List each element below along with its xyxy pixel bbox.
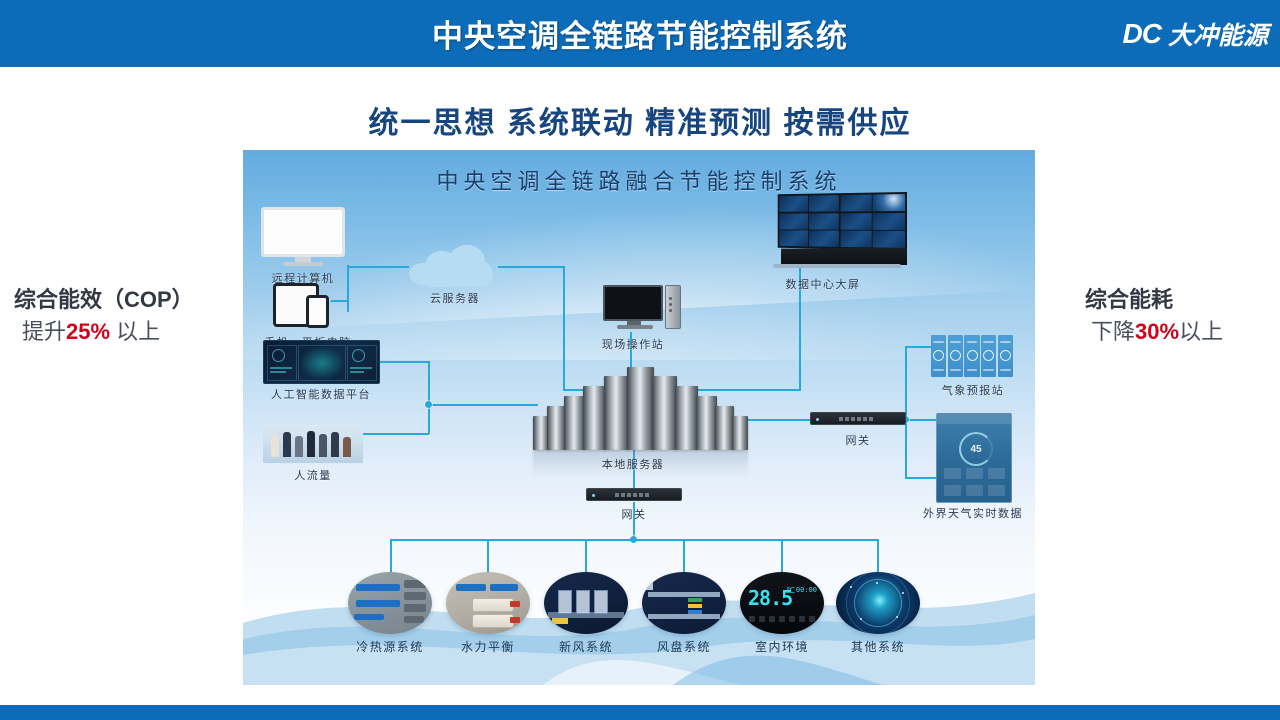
remote-computer-screen: [261, 207, 345, 257]
videowall-cell: [840, 231, 871, 248]
videowall-pedestal: [781, 248, 907, 265]
data-center-screen-icon: [763, 192, 913, 270]
connector-server-to-gateway-right: [743, 419, 811, 421]
star-particle: [850, 586, 852, 588]
bottom-node-other[interactable]: [836, 572, 920, 634]
cloud-server-icon: [409, 245, 501, 287]
weather-metric-chip: [966, 485, 983, 496]
callout-energy: 综合能耗 下降30%以上: [1085, 285, 1280, 346]
connector-drop-3: [585, 539, 587, 573]
workstation-led-2: [669, 303, 672, 306]
connector-people-bus-vertical: [428, 404, 430, 434]
gateway-port: [627, 493, 631, 497]
server-rack: [583, 386, 606, 450]
weather-metric-chip: [988, 485, 1005, 496]
label-other-systems: 其他系统: [818, 638, 938, 655]
weather-station-icon: [931, 335, 1013, 377]
weather-realtime-icon: 45: [936, 413, 1012, 503]
forecast-column: [964, 335, 979, 377]
weather-metric-row-1: [941, 468, 1007, 479]
videowall-grid: [778, 192, 907, 250]
people-flow-icon: [263, 425, 363, 463]
label-weather-realtime: 外界天气实时数据: [908, 505, 1035, 521]
ai-panel-center: [298, 345, 346, 381]
callout-energy-suffix: 以上: [1179, 319, 1223, 344]
gateway-right-led: [816, 418, 819, 421]
ai-ring-1: [272, 349, 285, 362]
gateway-port: [857, 417, 861, 421]
callout-energy-prefix: 下降: [1091, 319, 1135, 344]
callout-energy-value: 下降30%以上: [1085, 317, 1280, 347]
callout-cop-percent: 25%: [66, 319, 110, 344]
other-systems-icon: [836, 572, 920, 634]
videowall-cell: [873, 231, 905, 248]
label-data-center-screen: 数据中心大屏: [763, 276, 883, 292]
orbit-ring-outer: [846, 572, 910, 634]
callout-cop-suffix: 以上: [110, 319, 160, 344]
star-particle: [860, 618, 862, 620]
forecast-column: [931, 335, 946, 377]
cloud-puff-3: [449, 245, 485, 277]
server-rack: [732, 416, 748, 450]
onsite-workstation-icon: [603, 285, 683, 333]
thermostat-button: [789, 616, 795, 622]
callout-energy-percent: 30%: [1135, 319, 1179, 344]
bottom-node-indoor[interactable]: 28.5 ℃ 00:00: [740, 572, 824, 634]
gateway-port: [845, 417, 849, 421]
star-particle: [902, 592, 904, 594]
thermostat-unit: ℃: [786, 586, 795, 595]
brand-name: 大冲能源: [1168, 16, 1268, 52]
connector-weather-realtime: [905, 477, 937, 479]
remote-computer-base: [283, 262, 323, 266]
connector-drop-4: [683, 539, 685, 573]
server-rack: [604, 376, 629, 450]
connector-drop-1: [390, 539, 392, 573]
diagram-title: 中央空调全链路融合节能控制系统: [243, 164, 1035, 196]
gateway-port: [621, 493, 625, 497]
phone-tablet-icon: [273, 283, 343, 331]
callout-cop: 综合能效（COP） 提升25% 以上: [14, 285, 229, 346]
label-gateway-bottom: 网关: [594, 506, 674, 522]
connector-cloud-right: [498, 266, 564, 268]
forecast-column: [981, 335, 996, 377]
gateway-port: [869, 417, 873, 421]
subtitle-slogan: 统一思想 系统联动 精准预测 按需供应: [0, 98, 1280, 142]
callout-cop-title: 综合能效（COP）: [14, 285, 229, 315]
videowall-base: [773, 264, 901, 268]
server-rack: [652, 376, 677, 450]
callout-energy-title: 综合能耗: [1085, 285, 1280, 315]
person-5: [319, 434, 327, 457]
videowall-cell: [779, 213, 808, 229]
remote-computer-icon: [261, 207, 345, 267]
videowall-cell: [840, 195, 871, 212]
system-architecture-diagram: 中央空调全链路融合节能控制系统: [243, 150, 1035, 685]
workstation-screen: [603, 285, 663, 321]
workstation-tower: [665, 285, 681, 329]
label-ai-data-platform: 人工智能数据平台: [251, 386, 391, 402]
thermostat-buttons: [749, 616, 815, 623]
gateway-port: [645, 493, 649, 497]
server-rack: [696, 396, 717, 450]
videowall-cell: [779, 196, 808, 212]
star-particle: [896, 616, 898, 618]
workstation-led-3: [669, 309, 672, 312]
connector-drop-2: [487, 539, 489, 573]
chiller-plant-icon: [348, 572, 432, 634]
person-3: [295, 436, 303, 457]
gateway-port: [839, 417, 843, 421]
person-6: [331, 432, 339, 457]
label-people-flow: 人流量: [268, 467, 358, 483]
gateway-port: [633, 493, 637, 497]
hydraulic-balance-icon: [446, 572, 530, 634]
connector-ai-platform-horizontal: [377, 361, 429, 363]
gateway-bottom-icon: [586, 488, 682, 501]
fresh-air-icon: [544, 572, 628, 634]
sun-icon: [967, 350, 978, 361]
person-4: [307, 431, 315, 457]
label-chiller-system: 冷热源系统: [330, 638, 450, 655]
gateway-port: [851, 417, 855, 421]
fan-coil-icon: [642, 572, 726, 634]
videowall-cell-highlight: [873, 194, 905, 211]
bottom-node-chiller[interactable]: [348, 572, 432, 634]
gateway-bottom-led: [592, 494, 595, 497]
thermostat-button: [769, 616, 775, 622]
server-rack: [627, 367, 654, 450]
thermostat-clock: 00:00: [796, 586, 817, 594]
connector-drop-5: [781, 539, 783, 573]
ai-bar-3: [350, 367, 372, 369]
callout-cop-prefix: 提升: [22, 319, 66, 344]
weather-metric-chip: [966, 468, 983, 479]
brand-abbr: DC: [1123, 18, 1161, 50]
weather-metric-chip: [988, 468, 1005, 479]
thermostat-button: [809, 616, 815, 622]
brand-logo: DC 大冲能源: [1123, 14, 1268, 54]
videowall-cell: [779, 230, 808, 246]
thermostat-button: [799, 616, 805, 622]
bottom-node-hydro[interactable]: [446, 572, 530, 634]
connector-drop-6: [877, 539, 879, 573]
videowall-cell: [873, 213, 905, 230]
weather-metric-chip: [944, 485, 961, 496]
junction-dot-left-bus: [425, 401, 432, 408]
star-particle: [876, 582, 878, 584]
label-gateway-right: 网关: [818, 432, 898, 448]
ai-bar-4: [350, 371, 364, 373]
bottom-node-freshair[interactable]: [544, 572, 628, 634]
bottom-node-fancoil[interactable]: [642, 572, 726, 634]
videowall-cell: [840, 213, 871, 230]
phone-icon: [306, 295, 329, 328]
sun-icon: [950, 350, 961, 361]
indoor-thermostat-icon: 28.5 ℃ 00:00: [740, 572, 824, 634]
connector-remote-computer-horizontal: [347, 266, 409, 268]
cloud-puff-4: [409, 263, 435, 285]
label-local-server: 本地服务器: [583, 456, 683, 472]
videowall-cell: [809, 230, 839, 246]
server-rack: [675, 386, 698, 450]
thermostat-button: [779, 616, 785, 622]
workstation-led-1: [669, 297, 672, 300]
sun-icon: [933, 350, 944, 361]
label-onsite-workstation: 现场操作站: [583, 336, 683, 352]
connector-bottom-bus: [390, 539, 877, 541]
sun-icon: [983, 350, 994, 361]
page-title: 中央空调全链路节能控制系统: [0, 0, 1280, 67]
page-header: 中央空调全链路节能控制系统 DC 大冲能源: [0, 0, 1280, 67]
thermostat-button: [759, 616, 765, 622]
person-7: [343, 437, 351, 457]
gateway-right-icon: [810, 412, 906, 425]
server-rack: [564, 396, 585, 450]
local-server-icon: [533, 365, 748, 450]
gateway-port: [863, 417, 867, 421]
gateway-port: [615, 493, 619, 497]
workstation-foot: [617, 325, 653, 329]
ai-ring-2: [352, 349, 365, 362]
person-2: [283, 432, 291, 457]
ai-data-platform-icon: [263, 340, 380, 384]
forecast-column: [998, 335, 1013, 377]
forecast-column: [948, 335, 963, 377]
weather-metric-chip: [944, 468, 961, 479]
videowall-cell: [809, 213, 839, 229]
weather-gauge-value: 45: [970, 444, 981, 455]
weather-panel-header: [937, 414, 1011, 424]
sun-icon: [1000, 350, 1011, 361]
connector-people-bus: [428, 404, 538, 406]
videowall-cell: [809, 195, 839, 211]
ai-bar-2: [270, 371, 286, 373]
gateway-port: [639, 493, 643, 497]
weather-metric-row-2: [941, 485, 1007, 496]
connector-people-flow-horizontal: [362, 433, 429, 435]
label-cloud-server: 云服务器: [405, 290, 505, 306]
page-footer: [0, 705, 1280, 720]
weather-gauge: 45: [959, 432, 993, 466]
thermostat-button: [749, 616, 755, 622]
ai-bar-1: [270, 367, 292, 369]
callout-cop-value: 提升25% 以上: [14, 317, 229, 347]
person-1: [271, 435, 279, 457]
label-weather-station: 气象预报站: [918, 382, 1028, 398]
